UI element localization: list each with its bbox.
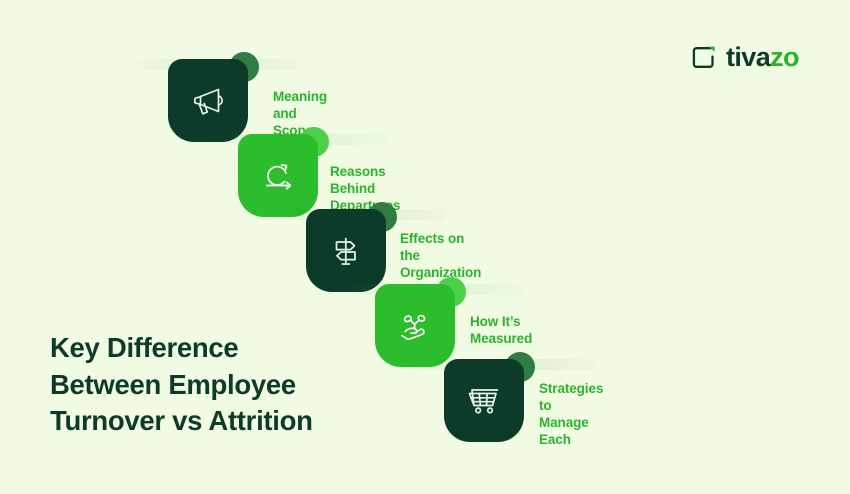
page-title-line-2: Between Employee <box>50 367 380 403</box>
step-card-3[interactable] <box>306 202 386 292</box>
page-title-line-1: Key Difference <box>50 330 380 366</box>
step-icon-container-3 <box>306 209 386 292</box>
brand-logo[interactable]: tivazo <box>690 44 799 71</box>
step-card-1[interactable] <box>168 52 248 142</box>
infographic-canvas: tivazo Key Difference Between Employee T… <box>0 0 850 494</box>
page-title: Key Difference Between Employee Turnover… <box>50 330 380 439</box>
brand-wordmark-part2: zo <box>770 42 799 72</box>
tivazo-bracket-icon <box>690 44 717 71</box>
step-icon-container-4 <box>375 284 455 367</box>
page-title-line-3: Turnover vs Attrition <box>50 403 380 439</box>
signpost-icon <box>324 229 368 273</box>
step-icon-container-1 <box>168 59 248 142</box>
megaphone-icon <box>186 79 230 123</box>
shopping-cart-icon <box>461 378 507 424</box>
step-card-5[interactable] <box>444 352 524 442</box>
refresh-cycle-icon <box>256 154 300 198</box>
step-icon-container-5 <box>444 359 524 442</box>
step-label-4: How It’s Measured <box>470 314 532 348</box>
brand-wordmark-part1: tiva <box>726 42 770 72</box>
step-label-5: Strategies to Manage Each <box>539 381 603 449</box>
hand-holding-plant-icon <box>393 304 437 348</box>
step-card-4[interactable] <box>375 277 455 367</box>
brand-wordmark: tivazo <box>726 44 799 71</box>
step-label-3: Effects on the Organization <box>400 231 481 282</box>
